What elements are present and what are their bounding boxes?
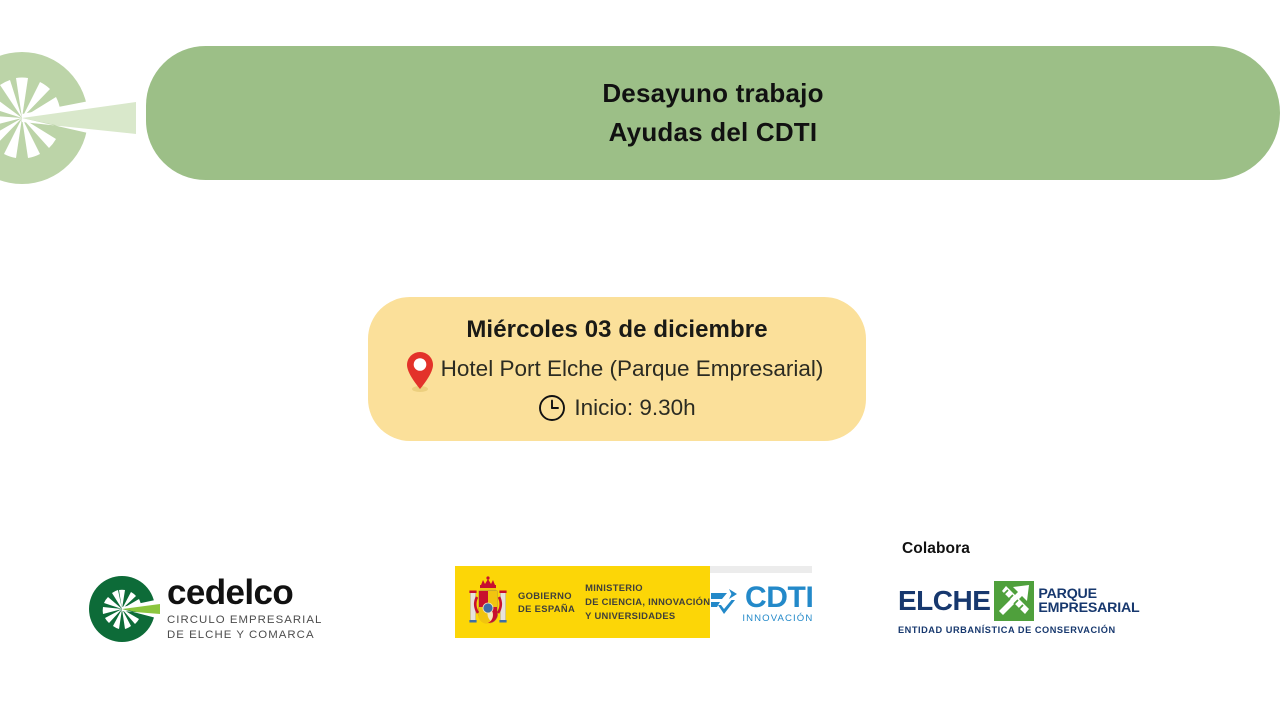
elche-right-line-1: PARQUE (1038, 587, 1139, 601)
cdti-tagline: INNOVACIÓN (742, 614, 813, 624)
cedelco-wordmark-group: cedelco CIRCULO EMPRESARIAL DE ELCHE Y C… (167, 575, 322, 643)
clock-icon (538, 394, 566, 422)
ministerio-line-1: MINISTERIO (585, 582, 643, 593)
diagonal-arrow-icon (994, 581, 1034, 621)
event-date: Miércoles 03 de diciembre (466, 316, 767, 344)
header-title-line-1: Desayuno trabajo (602, 75, 823, 112)
event-time-row: Inicio: 9.30h (538, 394, 695, 422)
cedelco-logo: cedelco CIRCULO EMPRESARIAL DE ELCHE Y C… (88, 570, 320, 648)
cedelco-subtitle-line-1: CIRCULO EMPRESARIAL (167, 613, 322, 628)
cdti-top-bar (710, 566, 812, 573)
gobierno-text: GOBIERNO DE ESPAÑA (518, 589, 575, 616)
cdti-logo-inner: CDTI INNOVACIÓN (709, 584, 813, 624)
colabora-label: Colabora (902, 540, 970, 558)
event-info-content: Miércoles 03 de diciembre Hotel Port Elc… (368, 297, 866, 441)
elche-right-line-2: EMPRESARIAL (1038, 601, 1139, 615)
gobierno-line-1: GOBIERNO (518, 590, 572, 601)
cedelco-pinwheel-icon (88, 573, 160, 645)
cdti-wordmark: CDTI (745, 584, 813, 613)
elche-parque-empresarial-logo: ELCHE PARQUE EMPRESARIAL ENTIDAD URBANÍS… (898, 580, 1098, 638)
elche-subtitle: ENTIDAD URBANÍSTICA DE CONSERVACIÓN (898, 625, 1094, 635)
cedelco-wordmark: cedelco (167, 575, 322, 610)
event-venue-text: Hotel Port Elche (Parque Empresarial) (441, 355, 824, 383)
cdti-check-arrow-icon (709, 587, 739, 621)
cedelco-pinwheel-icon (0, 52, 140, 184)
cdti-logo: CDTI INNOVACIÓN (710, 566, 812, 638)
elche-right-words: PARQUE EMPRESARIAL (1038, 587, 1139, 616)
cedelco-subtitle-line-2: DE ELCHE Y COMARCA (167, 628, 322, 643)
gobierno-de-espana-logo: GOBIERNO DE ESPAÑA (455, 566, 575, 638)
page-title: Desayuno trabajo Ayudas del CDTI (146, 46, 1280, 180)
event-venue-row: Hotel Port Elche (Parque Empresarial) (405, 347, 824, 392)
ministerio-line-2: DE CIENCIA, INNOVACIÓN (585, 596, 710, 607)
gobierno-line-2: DE ESPAÑA (518, 603, 575, 614)
ministerio-text: MINISTERIO DE CIENCIA, INNOVACIÓN Y UNIV… (575, 566, 710, 638)
elche-logo-top: ELCHE PARQUE EMPRESARIAL (898, 580, 1098, 622)
government-logo-strip: GOBIERNO DE ESPAÑA MINISTERIO DE CIENCIA… (455, 566, 805, 638)
cdti-wordmark-group: CDTI INNOVACIÓN (742, 584, 813, 624)
elche-wordmark: ELCHE (898, 587, 990, 615)
header-title-line-2: Ayudas del CDTI (609, 114, 818, 151)
ministerio-line-3: Y UNIVERSIDADES (585, 610, 675, 621)
spain-coat-of-arms-icon (467, 575, 509, 629)
map-pin-icon (405, 350, 435, 392)
event-time-text: Inicio: 9.30h (574, 394, 695, 422)
